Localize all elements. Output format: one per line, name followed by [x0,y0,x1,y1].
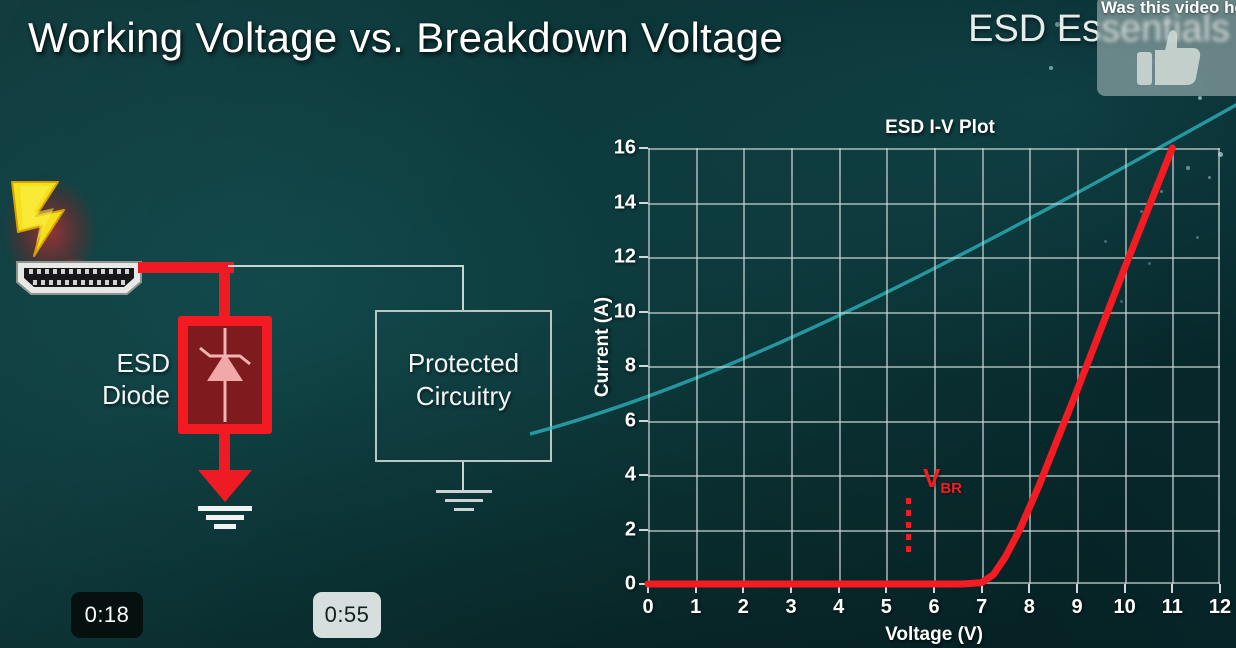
iv-curve-series [648,148,1220,584]
hdmi-connector-icon [14,256,144,298]
tickmark-y [639,256,648,258]
tickmark-x [1219,584,1221,593]
tickmark-y [639,529,648,531]
xtick-label: 8 [1024,596,1035,619]
ground-symbol-icon [188,470,262,530]
xtick-label: 9 [1071,596,1082,619]
signal-trace-vertical [219,262,230,324]
protected-trace-vertical [462,265,464,312]
tickmark-y [639,147,648,149]
video-frame: Working Voltage vs. Breakdown Voltage ES… [0,0,1236,648]
vbr-symbol: V [923,463,940,493]
zener-diode-icon [188,326,262,424]
chart-title: ESD I-V Plot [840,117,1040,139]
circuit-diagram: ESD Diode Protected Circuitry [0,150,580,570]
background-particle [1198,96,1202,100]
current-time-badge[interactable]: 0:18 [71,592,143,638]
xtick-label: 5 [881,596,892,619]
esd-diode-label: ESD Diode [78,348,170,411]
xtick-label: 7 [976,596,987,619]
vbr-subscript: BR [940,480,962,497]
xtick-label: 11 [1162,596,1183,619]
tickmark-y [639,311,648,313]
protected-label-line1: Protected [375,347,552,380]
xtick-label: 10 [1114,596,1136,619]
ytick-label: 12 [614,246,636,269]
ytick-label: 16 [614,137,636,160]
background-particle [1049,66,1053,70]
tickmark-x [1076,584,1078,593]
tickmark-x [1171,584,1173,593]
ytick-label: 10 [614,300,636,323]
protected-circuitry-label: Protected Circuitry [375,347,552,412]
plot-area: 16 14 12 10 8 6 4 2 0 0 1 2 3 [648,148,1220,584]
xtick-label: 12 [1209,596,1231,619]
xtick-label: 4 [833,596,844,619]
xtick-label: 6 [928,596,939,619]
thumbs-up-icon[interactable] [1135,26,1205,88]
protected-trace-horizontal [228,265,464,267]
tickmark-y [639,420,648,422]
page-title: Working Voltage vs. Breakdown Voltage [28,14,783,62]
esd-diode-label-line2: Diode [78,380,170,412]
tickmark-y [639,474,648,476]
video-survey-overlay[interactable]: Was this video helpful? [1097,0,1236,96]
survey-question-label: Was this video helpful? [1101,0,1236,18]
vbr-dotted-line [906,498,911,553]
y-axis-label: Current (A) [592,252,614,442]
ground-symbol-icon [428,462,500,520]
esd-diode-label-line1: ESD [78,348,170,380]
esd-diode-component[interactable] [178,316,272,434]
ytick-label: 6 [625,409,636,432]
tickmark-x [1124,584,1126,593]
ytick-label: 4 [625,464,636,487]
xtick-label: 3 [785,596,796,619]
ytick-label: 2 [625,518,636,541]
tickmark-y [639,365,648,367]
ytick-label: 14 [614,191,636,214]
x-axis-label: Voltage (V) [648,624,1220,646]
iv-chart: ESD I-V Plot [570,108,1236,648]
protected-label-line2: Circuitry [375,380,552,413]
xtick-label: 1 [690,596,701,619]
vbr-annotation-label: VBR [923,463,962,497]
tickmark-y [639,202,648,204]
xtick-label: 2 [738,596,749,619]
tickmark-x [1028,584,1030,593]
xtick-label: 0 [642,596,653,619]
total-time-badge[interactable]: 0:55 [313,592,381,638]
ytick-label: 8 [625,355,636,378]
ytick-label: 0 [625,573,636,596]
